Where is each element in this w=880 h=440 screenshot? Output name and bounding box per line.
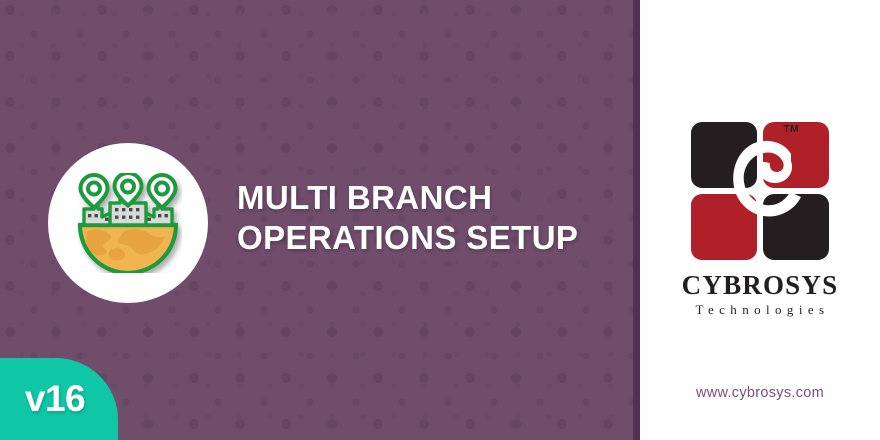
- multi-branch-globe-icon: [74, 173, 182, 273]
- cybrosys-subwordmark: Technologies: [640, 302, 880, 318]
- cybrosys-wordmark: CYBROSYS: [640, 270, 880, 300]
- banner-title-line-1: MULTI BRANCH: [237, 178, 617, 218]
- right-white-panel: TM CYBROSYS Technologies www.cybrosys.co…: [640, 0, 880, 440]
- website-url: www.cybrosys.com: [640, 385, 880, 401]
- module-icon-badge: [48, 143, 208, 303]
- version-badge-label: v16: [0, 377, 110, 421]
- cybrosys-c-monogram-icon: [687, 118, 833, 264]
- module-banner: MULTI BRANCH OPERATIONS SETUP v16 TM CYB…: [0, 0, 880, 440]
- trademark-symbol: TM: [784, 124, 799, 135]
- cybrosys-logo: TM CYBROSYS Technologies: [640, 118, 880, 318]
- banner-title: MULTI BRANCH OPERATIONS SETUP: [237, 178, 617, 258]
- banner-title-line-2: OPERATIONS SETUP: [237, 218, 617, 258]
- cybrosys-logo-mark: TM: [687, 118, 833, 264]
- panel-divider-stripe: [633, 0, 640, 440]
